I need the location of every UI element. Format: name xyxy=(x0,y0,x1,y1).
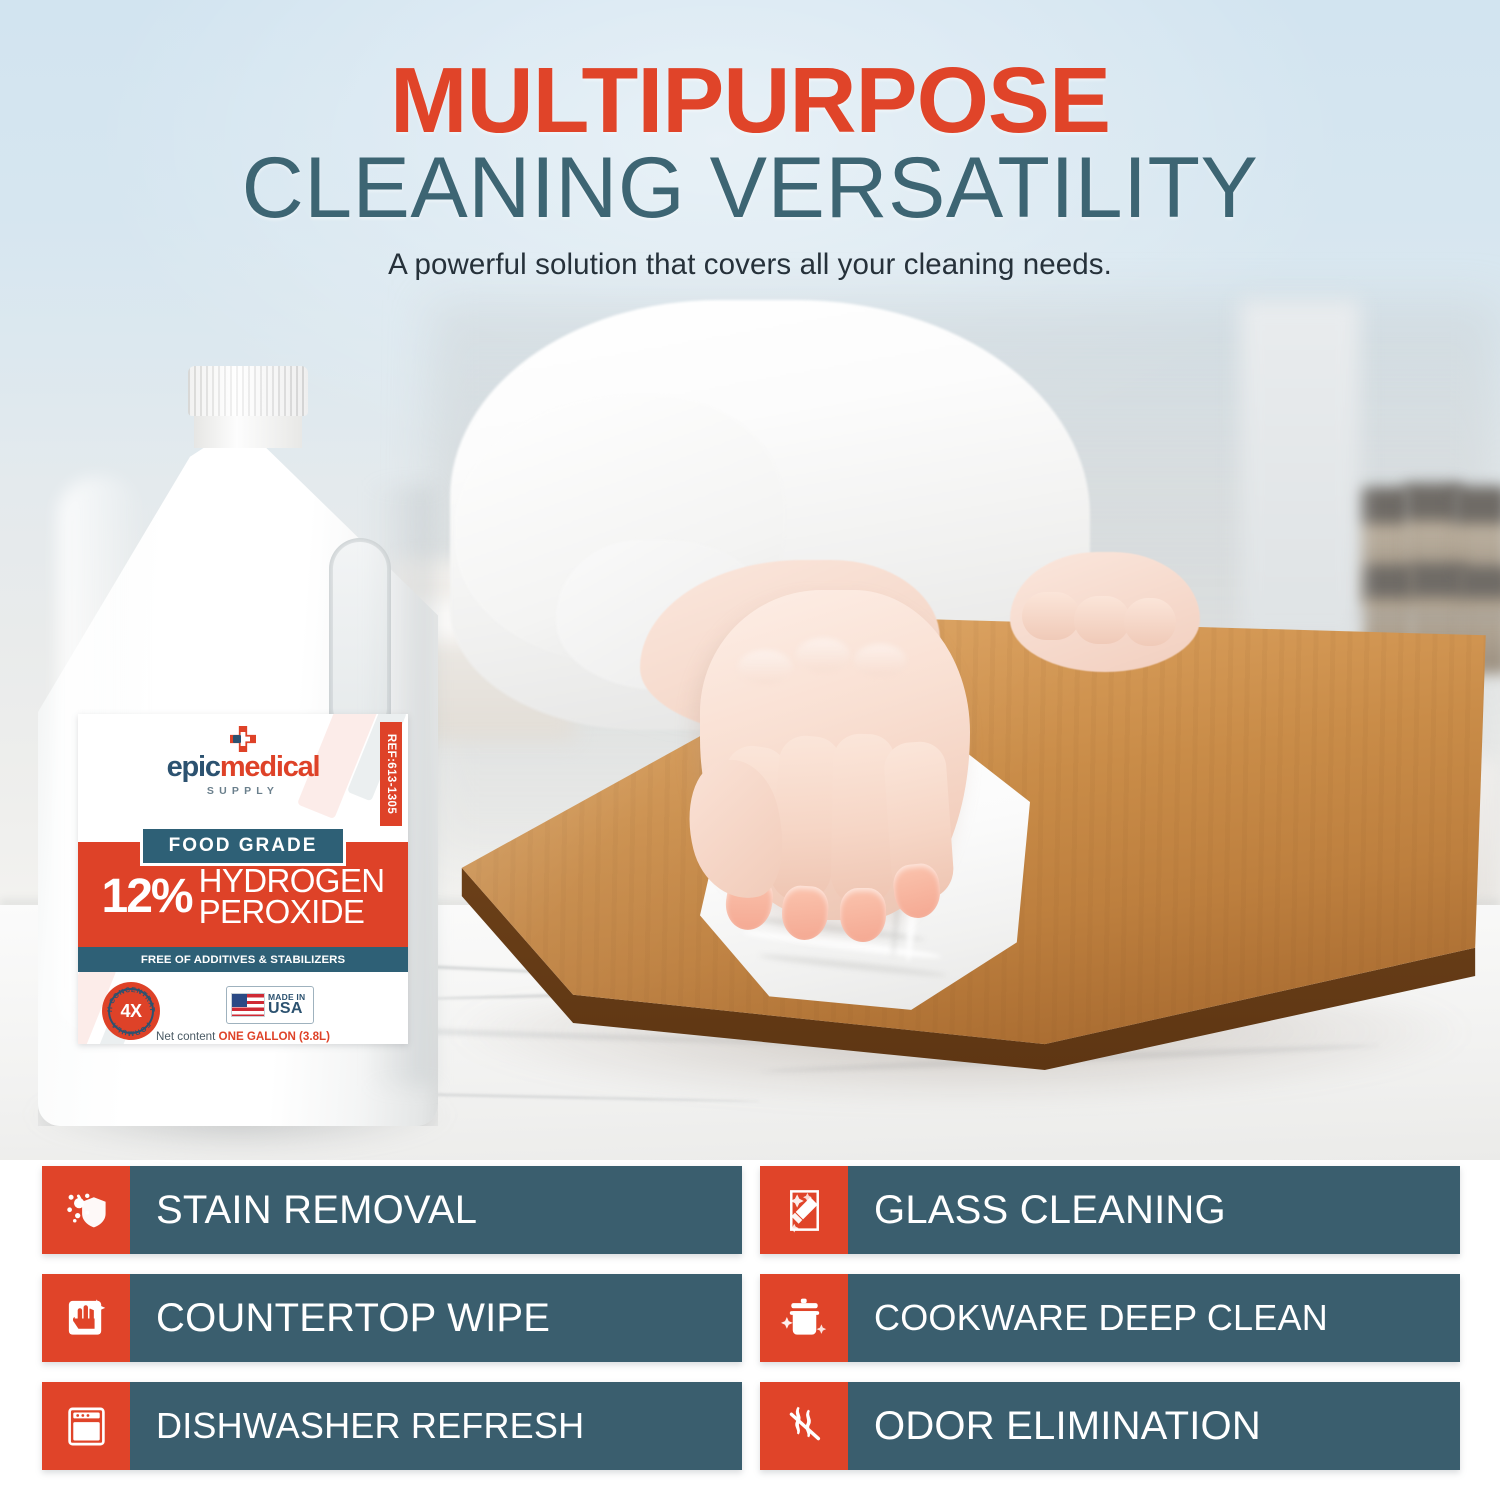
stain-shield-icon xyxy=(42,1166,130,1254)
brand-epic: epic xyxy=(167,751,220,783)
cabinet-hint xyxy=(1240,300,1360,640)
headline-secondary: CLEANING VERSATILITY xyxy=(0,145,1500,233)
glass-wipe-icon xyxy=(760,1166,848,1254)
feature-label: GLASS CLEANING xyxy=(848,1166,1226,1254)
brand-logo: epicmedical SUPPLY xyxy=(78,726,408,797)
food-grade-banner: FOOD GRADE xyxy=(78,826,408,866)
bottle-neck xyxy=(194,412,302,448)
brand-medical: medical xyxy=(220,751,320,783)
net-content-label: Net content xyxy=(156,1030,215,1043)
product-bottle: REF:613-1305 epicmedical SUPPLY FOOD GRA… xyxy=(38,366,438,1126)
made-in-usa-badge: MADE IN USA xyxy=(226,986,314,1024)
net-content-value: ONE GALLON (3.8L) xyxy=(219,1030,330,1043)
brand-wordmark: epicmedical xyxy=(78,753,408,782)
product-label: REF:613-1305 epicmedical SUPPLY FOOD GRA… xyxy=(78,714,408,1044)
finger xyxy=(1022,592,1080,640)
feature-grid: STAIN REMOVAL GLASS CLEANING xyxy=(42,1166,1460,1470)
medical-cross-icon xyxy=(230,726,256,752)
feature-item-stain-removal[interactable]: STAIN REMOVAL xyxy=(42,1166,742,1254)
finger xyxy=(1074,596,1130,644)
cooking-pot-icon xyxy=(760,1274,848,1362)
headline-primary: MULTIPURPOSE xyxy=(0,52,1500,149)
feature-label: DISHWASHER REFRESH xyxy=(130,1382,584,1470)
feature-label: STAIN REMOVAL xyxy=(130,1166,477,1254)
concentration-percent: 12% xyxy=(102,875,192,919)
feature-item-cookware-deep-clean[interactable]: COOKWARE DEEP CLEAN xyxy=(760,1274,1460,1362)
headline-block: MULTIPURPOSE CLEANING VERSATILITY A powe… xyxy=(0,52,1500,282)
feature-label: COUNTERTOP WIPE xyxy=(130,1274,550,1362)
chemical-name: HYDROGEN PEROXIDE xyxy=(199,866,385,927)
product-marketing-image: MULTIPURPOSE CLEANING VERSATILITY A powe… xyxy=(0,0,1500,1500)
fingernail xyxy=(840,888,886,942)
feature-label: ODOR ELIMINATION xyxy=(848,1382,1261,1470)
country-text: USA xyxy=(268,1001,305,1017)
odor-no-smell-icon xyxy=(760,1382,848,1470)
feature-item-glass-cleaning[interactable]: GLASS CLEANING xyxy=(760,1166,1460,1254)
brand-supply: SUPPLY xyxy=(78,785,408,797)
bottle-cap xyxy=(188,366,308,416)
feature-item-dishwasher-refresh[interactable]: DISHWASHER REFRESH xyxy=(42,1382,742,1470)
food-grade-label: FOOD GRADE xyxy=(140,826,347,866)
dishwasher-icon xyxy=(42,1382,130,1470)
headline-subtitle: A powerful solution that covers all your… xyxy=(0,248,1500,282)
chemical-name-line2: PEROXIDE xyxy=(199,897,385,928)
hand-wipe-icon xyxy=(42,1274,130,1362)
feature-label: COOKWARE DEEP CLEAN xyxy=(848,1274,1328,1362)
usa-flag-icon xyxy=(231,993,265,1017)
net-content: Net content ONE GALLON (3.8L) xyxy=(78,1030,408,1043)
finger xyxy=(1124,598,1176,646)
product-name-row: 12% HYDROGEN PEROXIDE xyxy=(78,866,408,927)
free-of-additives-band: FREE OF ADDITIVES & STABILIZERS xyxy=(78,947,408,972)
feature-item-odor-elimination[interactable]: ODOR ELIMINATION xyxy=(760,1382,1460,1470)
feature-item-countertop-wipe[interactable]: COUNTERTOP WIPE xyxy=(42,1274,742,1362)
